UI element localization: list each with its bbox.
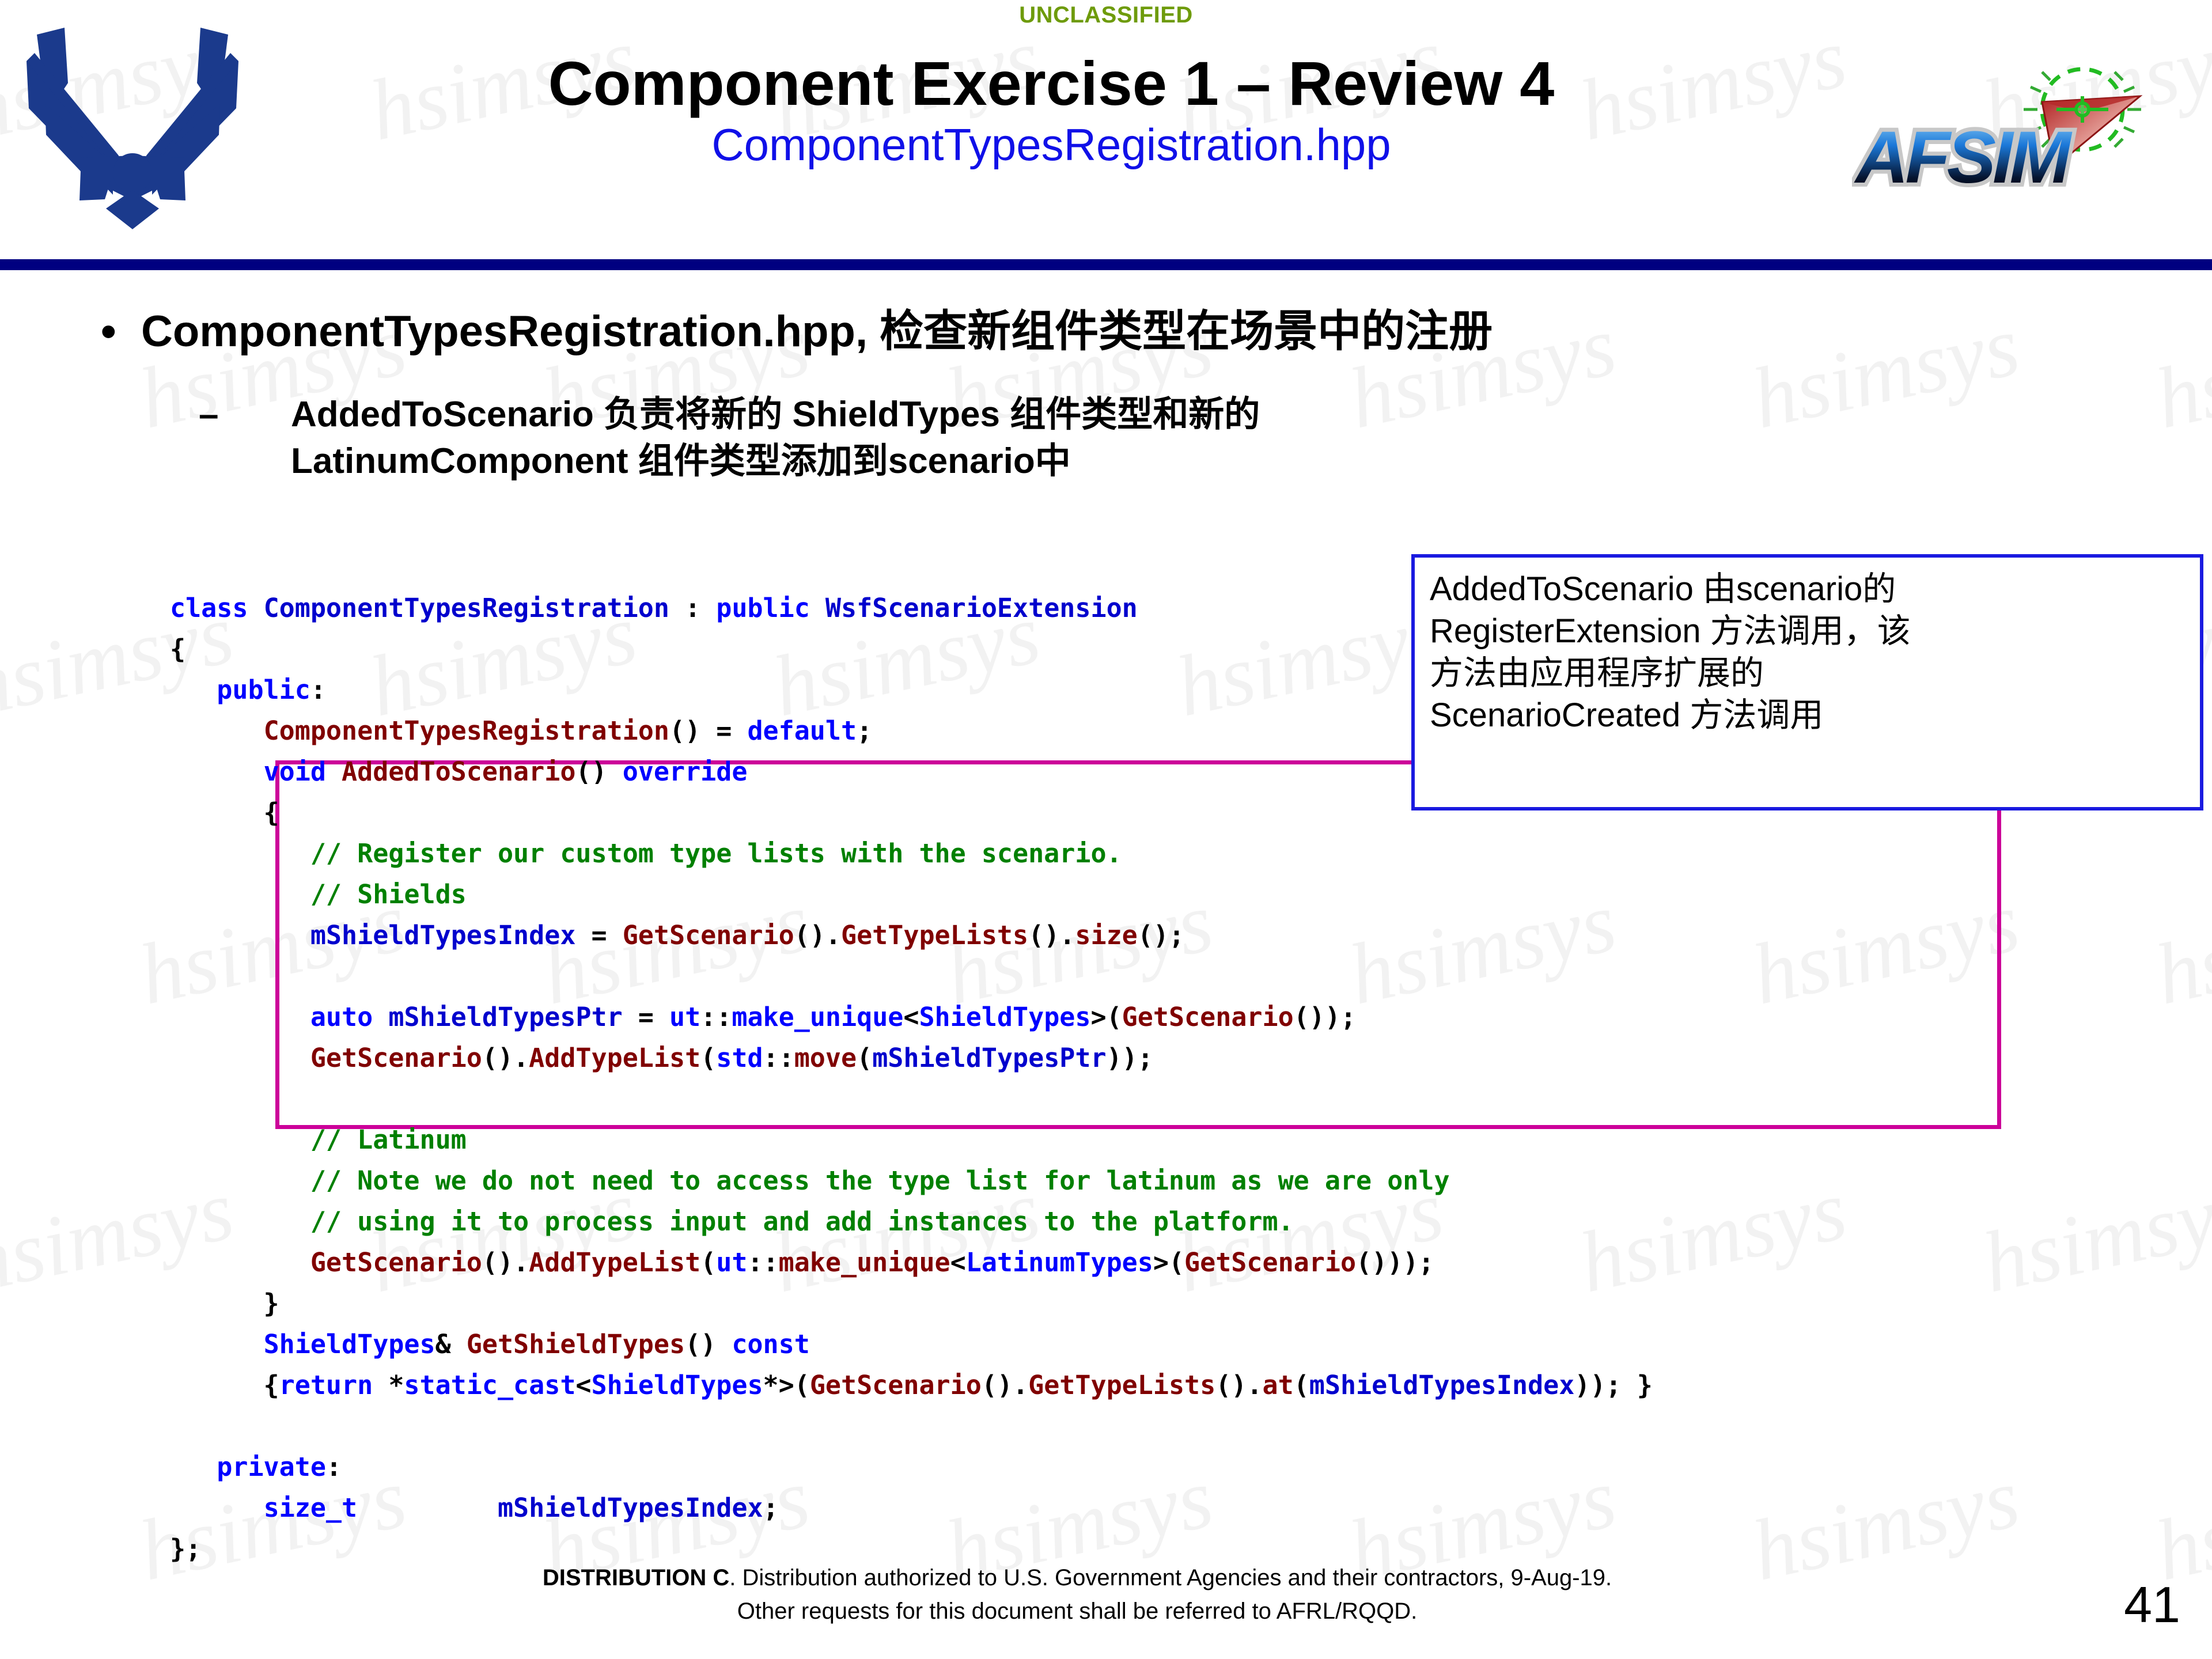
code-token: std: [716, 1043, 763, 1073]
code-line: size_t mShieldTypesIndex;: [170, 1487, 1653, 1528]
code-line: [170, 1078, 1653, 1119]
code-token: ().: [482, 1247, 529, 1278]
code-token: [170, 920, 310, 950]
title-block: Component Exercise 1 – Review 4 Componen…: [253, 51, 1849, 169]
code-token: (: [857, 1043, 872, 1073]
distribution-line-2: Other requests for this document shall b…: [248, 1594, 1907, 1628]
code-token: =: [623, 1002, 669, 1032]
code-token: ComponentTypesRegistration: [264, 715, 669, 746]
code-token: ut: [669, 1002, 700, 1032]
page-subtitle: ComponentTypesRegistration.hpp: [253, 122, 1849, 169]
code-token: [170, 879, 310, 910]
code-token: }: [170, 1288, 279, 1319]
callout-line-1: AddedToScenario 由scenario的: [1430, 568, 2185, 610]
watermark-text: hsimsys: [2147, 872, 2212, 1024]
bullet-level-1-bold: ComponentTypesRegistration.hpp: [141, 307, 855, 356]
code-token: <: [903, 1002, 919, 1032]
code-token: [170, 1165, 310, 1196]
code-token: ::: [700, 1002, 732, 1032]
code-token: [170, 756, 264, 787]
code-token: ShieldTypes: [264, 1329, 435, 1359]
code-token: private: [217, 1452, 326, 1482]
code-token: GetScenario: [310, 1247, 482, 1278]
code-token: mShieldTypesPtr: [388, 1002, 622, 1032]
code-token: [170, 1206, 310, 1237]
bullet-level-2-line-2: LatinumComponent 组件类型添加到scenario中: [291, 438, 2042, 485]
code-line: GetScenario().AddTypeList(ut::make_uniqu…: [170, 1242, 1653, 1283]
code-line: {return *static_cast<ShieldTypes*>(GetSc…: [170, 1365, 1653, 1406]
code-token: [170, 715, 264, 746]
code-token: GetScenario: [1184, 1247, 1356, 1278]
code-token: ::: [747, 1247, 778, 1278]
code-token: =: [575, 920, 622, 950]
code-token: const: [732, 1329, 809, 1359]
code-token: AddTypeList: [529, 1247, 700, 1278]
code-token: :: [669, 593, 716, 623]
code-token: [170, 1043, 310, 1073]
code-token: ().: [482, 1043, 529, 1073]
code-token: >(: [1090, 1002, 1122, 1032]
code-token: ().: [1028, 920, 1075, 950]
code-token: () =: [669, 715, 747, 746]
afsim-logo: AFSIM AFSIM: [1852, 32, 2198, 199]
code-token: [170, 675, 217, 705]
code-token: move: [794, 1043, 857, 1073]
code-token: size_t: [264, 1493, 358, 1523]
code-token: <: [950, 1247, 966, 1278]
code-token: ().: [982, 1370, 1028, 1400]
classification-banner: UNCLASSIFIED: [0, 2, 2212, 28]
code-token: mShieldTypesIndex: [310, 920, 576, 950]
callout-line-3: 方法由应用程序扩展的: [1430, 652, 2185, 694]
callout-line-4: ScenarioCreated 方法调用: [1430, 694, 2185, 736]
code-token: ut: [716, 1247, 747, 1278]
page-title: Component Exercise 1 – Review 4: [253, 51, 1849, 116]
bullet-level-2-line-1: AddedToScenario 负责将新的 ShieldTypes 组件类型和新…: [291, 392, 2042, 438]
code-token: (: [700, 1247, 716, 1278]
bullet-level-1: •ComponentTypesRegistration.hpp, 检查新组件类型…: [101, 306, 2186, 357]
code-token: {: [170, 634, 185, 664]
header-divider: [0, 259, 2212, 270]
code-token: ;: [857, 715, 872, 746]
code-token: {: [170, 797, 279, 828]
code-token: // Shields: [310, 879, 467, 910]
distribution-label: DISTRIBUTION C: [543, 1565, 729, 1590]
code-token: make_unique: [779, 1247, 950, 1278]
code-token: [170, 1493, 264, 1523]
code-token: ()));: [1356, 1247, 1434, 1278]
code-token: ().: [1215, 1370, 1262, 1400]
code-token: static_cast: [404, 1370, 575, 1400]
code-token: size: [1075, 920, 1137, 950]
code-line: // using it to process input and add ins…: [170, 1201, 1653, 1242]
code-line: [170, 956, 1653, 997]
code-token: ::: [763, 1043, 794, 1073]
code-token: AddedToScenario: [342, 756, 575, 787]
code-token: return: [279, 1370, 389, 1400]
code-token: ));: [1107, 1043, 1153, 1073]
slide-root: hsimsyshsimsyshsimsyshsimsyshsimsyshsims…: [0, 0, 2212, 1659]
code-token: AddTypeList: [529, 1043, 700, 1073]
code-line: // Register our custom type lists with t…: [170, 833, 1653, 874]
code-token: GetScenario: [623, 920, 794, 950]
code-token: )); }: [1574, 1370, 1652, 1400]
code-token: // using it to process input and add ins…: [310, 1206, 1294, 1237]
code-token: ShieldTypes: [919, 1002, 1090, 1032]
code-token: [170, 1247, 310, 1278]
code-line: }: [170, 1283, 1653, 1324]
code-token: &: [435, 1329, 467, 1359]
code-token: default: [747, 715, 857, 746]
code-token: [170, 1124, 310, 1155]
code-token: LatinumTypes: [966, 1247, 1153, 1278]
code-token: make_unique: [732, 1002, 903, 1032]
distribution-text: . Distribution authorized to U.S. Govern…: [729, 1565, 1612, 1590]
code-token: [170, 1002, 310, 1032]
code-token: [357, 1493, 498, 1523]
code-line: [170, 1406, 1653, 1446]
code-token: // Note we do not need to access the typ…: [310, 1165, 1450, 1196]
usaf-wings-icon: [12, 28, 253, 238]
code-token: (): [575, 756, 622, 787]
code-line: private:: [170, 1446, 1653, 1487]
code-token: override: [623, 756, 748, 787]
code-token: [170, 1329, 264, 1359]
code-token: ;: [763, 1493, 779, 1523]
callout-line-2: RegisterExtension 方法调用，该: [1430, 610, 2185, 652]
callout-box: AddedToScenario 由scenario的 RegisterExten…: [1411, 554, 2203, 810]
code-token: GetShieldTypes: [467, 1329, 685, 1359]
code-token: void: [264, 756, 342, 787]
code-line: // Shields: [170, 874, 1653, 915]
code-token: mShieldTypesPtr: [872, 1043, 1106, 1073]
code-token: };: [170, 1533, 201, 1564]
bullet-marker: •: [101, 306, 141, 357]
code-token: public: [217, 675, 310, 705]
code-token: (: [700, 1043, 716, 1073]
code-token: *>(: [763, 1370, 810, 1400]
distribution-statement: DISTRIBUTION C. Distribution authorized …: [248, 1561, 1907, 1628]
code-token: (: [1294, 1370, 1309, 1400]
page-number: 41: [2124, 1575, 2180, 1634]
bullet-level-1-rest: , 检查新组件类型在场景中的注册: [855, 307, 1493, 356]
code-token: <: [575, 1370, 591, 1400]
watermark-text: hsimsys: [1974, 1160, 2212, 1312]
code-line: auto mShieldTypesPtr = ut::make_unique<S…: [170, 997, 1653, 1037]
code-token: // Latinum: [310, 1124, 467, 1155]
code-token: :: [310, 675, 326, 705]
code-token: at: [1263, 1370, 1294, 1400]
code-token: *: [388, 1370, 404, 1400]
code-token: GetTypeLists: [841, 920, 1028, 950]
code-token: mShieldTypesIndex: [1309, 1370, 1575, 1400]
code-token: // Register our custom type lists with t…: [310, 838, 1122, 869]
code-token: GetScenario: [1122, 1002, 1294, 1032]
code-line: mShieldTypesIndex = GetScenario().GetTyp…: [170, 915, 1653, 956]
code-token: ShieldTypes: [592, 1370, 763, 1400]
code-token: ().: [794, 920, 841, 950]
code-line: // Note we do not need to access the typ…: [170, 1160, 1653, 1201]
bullet-level-2: – AddedToScenario 负责将新的 ShieldTypes 组件类型…: [199, 392, 2042, 484]
sub-bullet-marker: –: [199, 392, 218, 438]
code-token: :: [326, 1452, 342, 1482]
code-token: GetTypeLists: [1028, 1370, 1215, 1400]
code-token: mShieldTypesIndex: [498, 1493, 763, 1523]
code-token: [170, 838, 310, 869]
code-token: GetScenario: [810, 1370, 982, 1400]
code-token: ();: [1138, 920, 1184, 950]
code-token: ComponentTypesRegistration: [264, 593, 669, 623]
code-line: // Latinum: [170, 1119, 1653, 1160]
code-token: (): [685, 1329, 732, 1359]
code-token: class: [170, 593, 264, 623]
code-token: >(: [1153, 1247, 1184, 1278]
code-token: auto: [310, 1002, 388, 1032]
code-line: ShieldTypes& GetShieldTypes() const: [170, 1324, 1653, 1365]
code-token: ());: [1294, 1002, 1356, 1032]
afsim-wordmark: AFSIM: [1854, 116, 2073, 199]
code-token: public: [716, 593, 825, 623]
code-line: GetScenario().AddTypeList(std::move(mShi…: [170, 1037, 1653, 1078]
code-token: GetScenario: [310, 1043, 482, 1073]
code-token: {: [170, 1370, 279, 1400]
code-token: [170, 1452, 217, 1482]
distribution-line-1: DISTRIBUTION C. Distribution authorized …: [248, 1561, 1907, 1594]
code-token: WsfScenarioExtension: [825, 593, 1138, 623]
